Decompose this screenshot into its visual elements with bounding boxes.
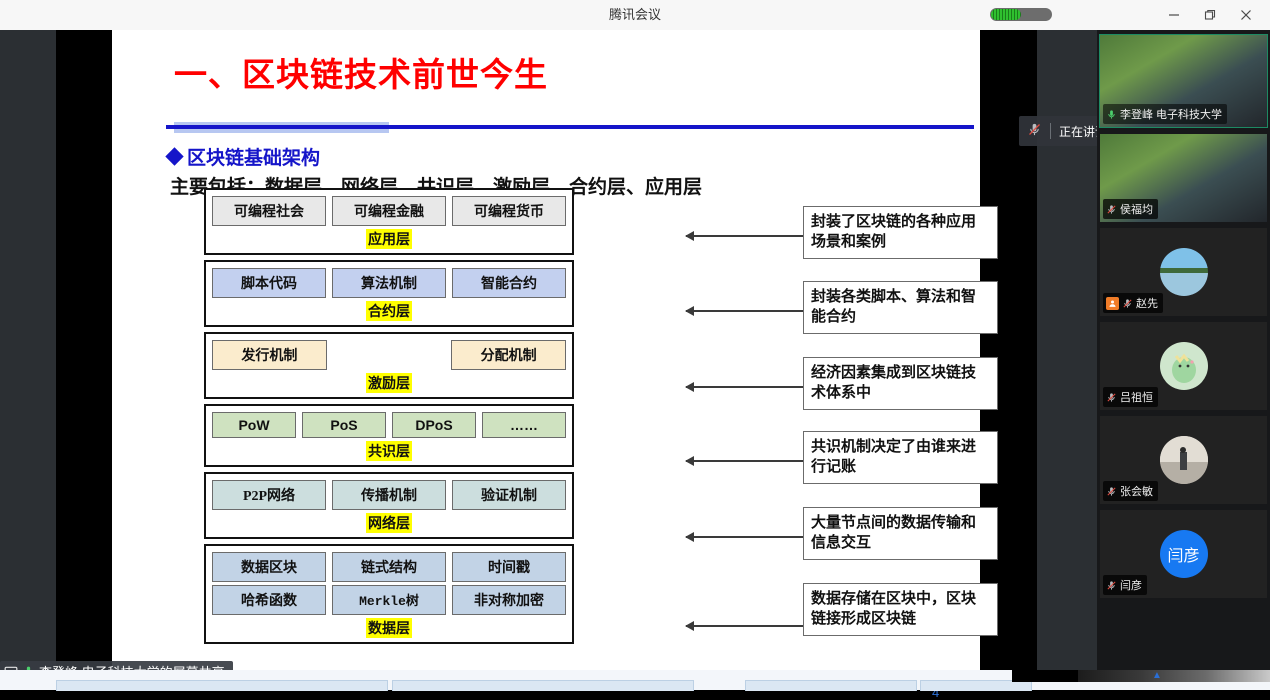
layer-cell: 算法机制 xyxy=(332,268,446,298)
taskbar-window[interactable] xyxy=(392,680,694,691)
minimize-icon[interactable] xyxy=(1156,0,1192,30)
layer-tag: 合约层 xyxy=(212,301,566,321)
layer-tag: 共识层 xyxy=(212,441,566,461)
layer-cell: PoS xyxy=(302,412,386,438)
participant-panel[interactable]: 李登峰 电子科技大学 侯福均 xyxy=(1097,30,1270,670)
layer-tag-label: 数据层 xyxy=(366,618,412,638)
layer-row: 数据区块 链式结构 时间戳 xyxy=(212,552,566,582)
layer-cell: 数据区块 xyxy=(212,552,326,582)
layer-description: 封装了区块链的各种应用场景和案例 xyxy=(803,206,998,259)
layer-cell: PoW xyxy=(212,412,296,438)
connector-arrow-icon xyxy=(686,310,804,312)
window-controls xyxy=(1156,0,1264,30)
diamond-bullet-icon xyxy=(165,147,183,165)
layer-row: P2P网络 传播机制 验证机制 xyxy=(212,480,566,510)
maximize-icon[interactable] xyxy=(1192,0,1228,30)
layer-incentive: 发行机制 分配机制 激励层 xyxy=(204,332,574,399)
layer-cell: P2P网络 xyxy=(212,480,326,510)
participant-name-badge: 闫彦 xyxy=(1103,575,1147,595)
layer-tag-label: 共识层 xyxy=(366,441,412,461)
participant-name: 张会敏 xyxy=(1120,483,1153,499)
participant-name-badge: 吕祖恒 xyxy=(1103,387,1158,407)
layer-tag-label: 激励层 xyxy=(366,373,412,393)
layer-cell: 可编程金融 xyxy=(332,196,446,226)
desktop-left-strip xyxy=(0,30,56,670)
participant-tile[interactable]: 侯福均 xyxy=(1100,134,1267,222)
layer-row: 脚本代码 算法机制 智能合约 xyxy=(212,268,566,298)
connector-arrow-icon xyxy=(686,536,804,538)
avatar xyxy=(1160,342,1208,390)
blockchain-layer-diagram: 可编程社会 可编程金融 可编程货币 应用层 脚本代码 算法机制 智能合约 合约层 xyxy=(204,188,574,649)
avatar xyxy=(1160,248,1208,296)
layer-cell: 可编程货币 xyxy=(452,196,566,226)
participant-name: 侯福均 xyxy=(1120,201,1153,217)
layer-cell: Merkle树 xyxy=(332,585,446,615)
presentation-slide: 一、区块链技术前世今生 区块链基础架构 主要包括：数据层、网络层、共识层、激励层… xyxy=(112,30,980,670)
layer-cell: 验证机制 xyxy=(452,480,566,510)
connector-arrow-icon xyxy=(686,625,804,627)
participant-name-badge: 赵先 xyxy=(1103,293,1163,313)
mic-muted-icon xyxy=(1027,122,1042,140)
close-icon[interactable] xyxy=(1228,0,1264,30)
layer-description: 大量节点间的数据传输和信息交互 xyxy=(803,507,998,560)
layer-row: 可编程社会 可编程金融 可编程货币 xyxy=(212,196,566,226)
avatar: 闫彦 xyxy=(1160,530,1208,578)
participant-tile[interactable]: 闫彦 闫彦 xyxy=(1100,510,1267,598)
title-bar: 腾讯会议 xyxy=(0,0,1270,30)
participant-tile[interactable]: 赵先 xyxy=(1100,228,1267,316)
slide-title: 一、区块链技术前世今生 xyxy=(174,48,548,96)
title-underline xyxy=(166,125,974,129)
layer-cell-spacer xyxy=(333,340,446,370)
layer-cell: 分配机制 xyxy=(451,340,566,370)
participant-name: 赵先 xyxy=(1136,295,1158,311)
layer-row: PoW PoS DPoS …… xyxy=(212,412,566,438)
signal-meter-icon xyxy=(990,8,1052,21)
mic-muted-icon xyxy=(1122,298,1133,309)
layer-cell: 链式结构 xyxy=(332,552,446,582)
layer-row: 发行机制 分配机制 xyxy=(212,340,566,370)
mic-muted-icon xyxy=(1106,580,1117,591)
tray-arrow-icon[interactable]: ▲ xyxy=(1152,670,1162,681)
mic-muted-icon xyxy=(1106,204,1117,215)
participant-name-badge: 张会敏 xyxy=(1103,481,1158,501)
slide-bullet-heading: 区块链基础架构 xyxy=(168,143,320,170)
shared-screen-stage: 一、区块链技术前世今生 区块链基础架构 主要包括：数据层、网络层、共识层、激励层… xyxy=(0,30,1270,670)
layer-cell: 智能合约 xyxy=(452,268,566,298)
participant-name-badge: 李登峰 电子科技大学 xyxy=(1103,104,1227,124)
taskbar-window[interactable] xyxy=(745,680,917,691)
layer-cell: 传播机制 xyxy=(332,480,446,510)
participant-tile[interactable]: 李登峰 电子科技大学 xyxy=(1099,34,1268,128)
layer-tag: 激励层 xyxy=(212,373,566,393)
layer-cell: 非对称加密 xyxy=(452,585,566,615)
layer-tag-label: 应用层 xyxy=(366,229,412,249)
os-taskbar[interactable]: ▲ xyxy=(0,670,1270,690)
participant-name: 李登峰 电子科技大学 xyxy=(1120,106,1222,122)
participant-name: 吕祖恒 xyxy=(1120,389,1153,405)
layer-description: 封装各类脚本、算法和智能合约 xyxy=(803,281,998,334)
layer-tag: 网络层 xyxy=(212,513,566,533)
connector-arrow-icon xyxy=(686,460,804,462)
participant-tile[interactable]: 张会敏 xyxy=(1100,416,1267,504)
layer-network: P2P网络 传播机制 验证机制 网络层 xyxy=(204,472,574,539)
layer-tag-label: 合约层 xyxy=(366,301,412,321)
connector-arrow-icon xyxy=(686,386,804,388)
overlay-divider xyxy=(1050,123,1051,139)
avatar-initials: 闫彦 xyxy=(1167,542,1199,566)
participant-tile[interactable]: 吕祖恒 xyxy=(1100,322,1267,410)
layer-contract: 脚本代码 算法机制 智能合约 合约层 xyxy=(204,260,574,327)
layer-description: 共识机制决定了由谁来进行记账 xyxy=(803,431,998,484)
mic-muted-icon xyxy=(1106,486,1117,497)
mic-on-icon xyxy=(1106,109,1117,120)
layer-row: 哈希函数 Merkle树 非对称加密 xyxy=(212,585,566,615)
layer-description: 经济因素集成到区块链技术体系中 xyxy=(803,357,998,410)
layer-tag-label: 网络层 xyxy=(366,513,412,533)
layer-cell: 时间戳 xyxy=(452,552,566,582)
mic-muted-icon xyxy=(1106,392,1117,403)
connector-arrow-icon xyxy=(686,235,804,237)
slide-bullet-label: 区块链基础架构 xyxy=(187,143,320,170)
layer-cell: …… xyxy=(482,412,566,438)
layer-application: 可编程社会 可编程金融 可编程货币 应用层 xyxy=(204,188,574,255)
layer-cell: 哈希函数 xyxy=(212,585,326,615)
layer-cell: 脚本代码 xyxy=(212,268,326,298)
layer-tag: 数据层 xyxy=(212,618,566,638)
host-badge-icon xyxy=(1106,297,1119,310)
layer-description: 数据存储在区块中，区块链接形成区块链 xyxy=(803,583,998,636)
taskbar-letterbox xyxy=(1012,670,1078,682)
tencent-meeting-window: 腾讯会议 一、区块链技 xyxy=(0,0,1270,690)
layer-tag: 应用层 xyxy=(212,229,566,249)
participant-name: 闫彦 xyxy=(1120,577,1142,593)
layer-data: 数据区块 链式结构 时间戳 哈希函数 Merkle树 非对称加密 数据层 xyxy=(204,544,574,644)
window-title: 腾讯会议 xyxy=(0,0,1270,30)
participant-name-badge: 侯福均 xyxy=(1103,199,1158,219)
layer-consensus: PoW PoS DPoS …… 共识层 xyxy=(204,404,574,467)
taskbar-letterbox xyxy=(1078,670,1270,682)
letterbox-left xyxy=(56,30,112,670)
layer-cell: 发行机制 xyxy=(212,340,327,370)
layer-cell: 可编程社会 xyxy=(212,196,326,226)
layer-cell: DPoS xyxy=(392,412,476,438)
avatar xyxy=(1160,436,1208,484)
taskbar-window[interactable] xyxy=(56,680,388,691)
